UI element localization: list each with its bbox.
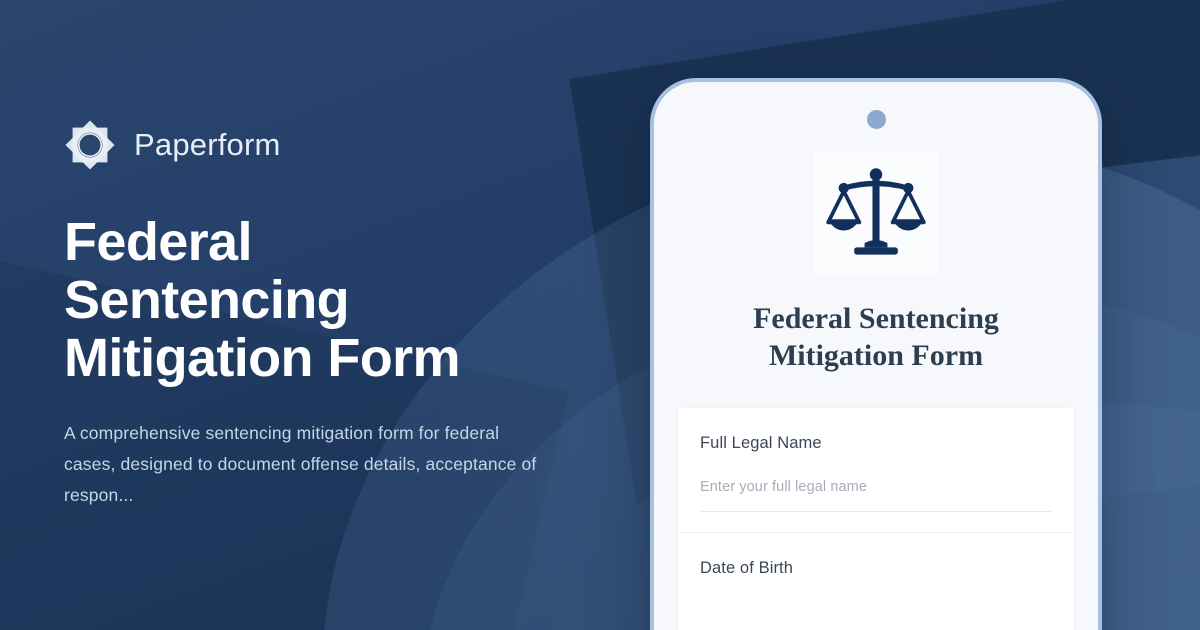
brand-name: Paperform — [134, 127, 281, 163]
hero-content: Paperform Federal Sentencing Mitigation … — [64, 0, 584, 630]
field-label: Full Legal Name — [700, 434, 1052, 453]
page-title: Federal Sentencing Mitigation Form — [64, 213, 544, 388]
form-title: Federal Sentencing Mitigation Form — [684, 301, 1068, 374]
scales-of-justice-icon — [824, 161, 928, 265]
phone-mockup: Federal Sentencing Mitigation Form Full … — [650, 78, 1102, 630]
form-field-date-of-birth: Date of Birth — [678, 533, 1074, 630]
date-of-birth-input[interactable] — [700, 604, 1052, 630]
paperform-logo-icon — [64, 119, 116, 171]
camera-dot-icon — [867, 110, 886, 129]
form-field-full-legal-name: Full Legal Name Enter your full legal na… — [678, 408, 1074, 533]
form-logo — [814, 151, 938, 275]
og-image-canvas: Paperform Federal Sentencing Mitigation … — [0, 0, 1200, 630]
page-description: A comprehensive sentencing mitigation fo… — [64, 418, 546, 511]
field-label: Date of Birth — [700, 559, 1052, 578]
brand-lockup: Paperform — [64, 119, 584, 171]
full-legal-name-input[interactable]: Enter your full legal name — [700, 479, 1052, 512]
form-card: Full Legal Name Enter your full legal na… — [678, 408, 1074, 630]
